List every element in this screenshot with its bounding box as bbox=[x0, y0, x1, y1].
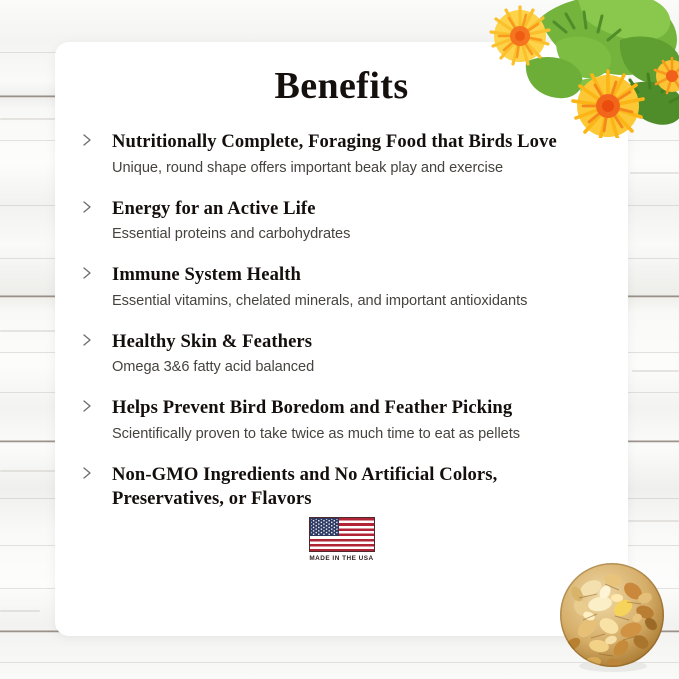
chevron-right-icon bbox=[81, 265, 95, 281]
benefit-headline: Energy for an Active Life bbox=[112, 197, 607, 222]
benefit-headline: Helps Prevent Bird Boredom and Feather P… bbox=[112, 396, 607, 421]
benefit-subtext: Omega 3&6 fatty acid balanced bbox=[112, 358, 607, 377]
benefit-subtext: Scientifically proven to take twice as m… bbox=[112, 425, 607, 444]
benefit-subtext: Essential proteins and carbohydrates bbox=[112, 225, 607, 244]
list-item: Healthy Skin & Feathers Omega 3&6 fatty … bbox=[79, 330, 607, 378]
benefit-headline: Non-GMO Ingredients and No Artificial Co… bbox=[112, 463, 552, 512]
list-item: Nutritionally Complete, Foraging Food th… bbox=[79, 130, 607, 178]
list-item: Helps Prevent Bird Boredom and Feather P… bbox=[79, 396, 607, 444]
list-item: Immune System Health Essential vitamins,… bbox=[79, 263, 607, 311]
made-in-usa-badge: MADE IN THE USA bbox=[306, 517, 378, 562]
chevron-right-icon bbox=[81, 398, 95, 414]
chevron-right-icon bbox=[81, 465, 95, 481]
benefit-subtext: Unique, round shape offers important bea… bbox=[112, 159, 607, 178]
benefit-headline: Healthy Skin & Feathers bbox=[112, 330, 607, 355]
badge-caption: MADE IN THE USA bbox=[306, 555, 378, 562]
benefit-headline: Nutritionally Complete, Foraging Food th… bbox=[112, 130, 607, 155]
product-benefits-infographic: Benefits Nutritionally Complete, Foragin… bbox=[0, 0, 679, 679]
benefits-card: Benefits Nutritionally Complete, Foragin… bbox=[55, 42, 628, 636]
list-item: Energy for an Active Life Essential prot… bbox=[79, 197, 607, 245]
benefit-headline: Immune System Health bbox=[112, 263, 607, 288]
list-item: Non-GMO Ingredients and No Artificial Co… bbox=[79, 463, 607, 512]
chevron-right-icon bbox=[81, 132, 95, 148]
chevron-right-icon bbox=[81, 199, 95, 215]
page-title: Benefits bbox=[55, 64, 628, 108]
usa-flag-icon bbox=[309, 517, 375, 552]
benefit-subtext: Essential vitamins, chelated minerals, a… bbox=[112, 292, 607, 311]
chevron-right-icon bbox=[81, 332, 95, 348]
benefits-list: Nutritionally Complete, Foraging Food th… bbox=[79, 130, 607, 512]
